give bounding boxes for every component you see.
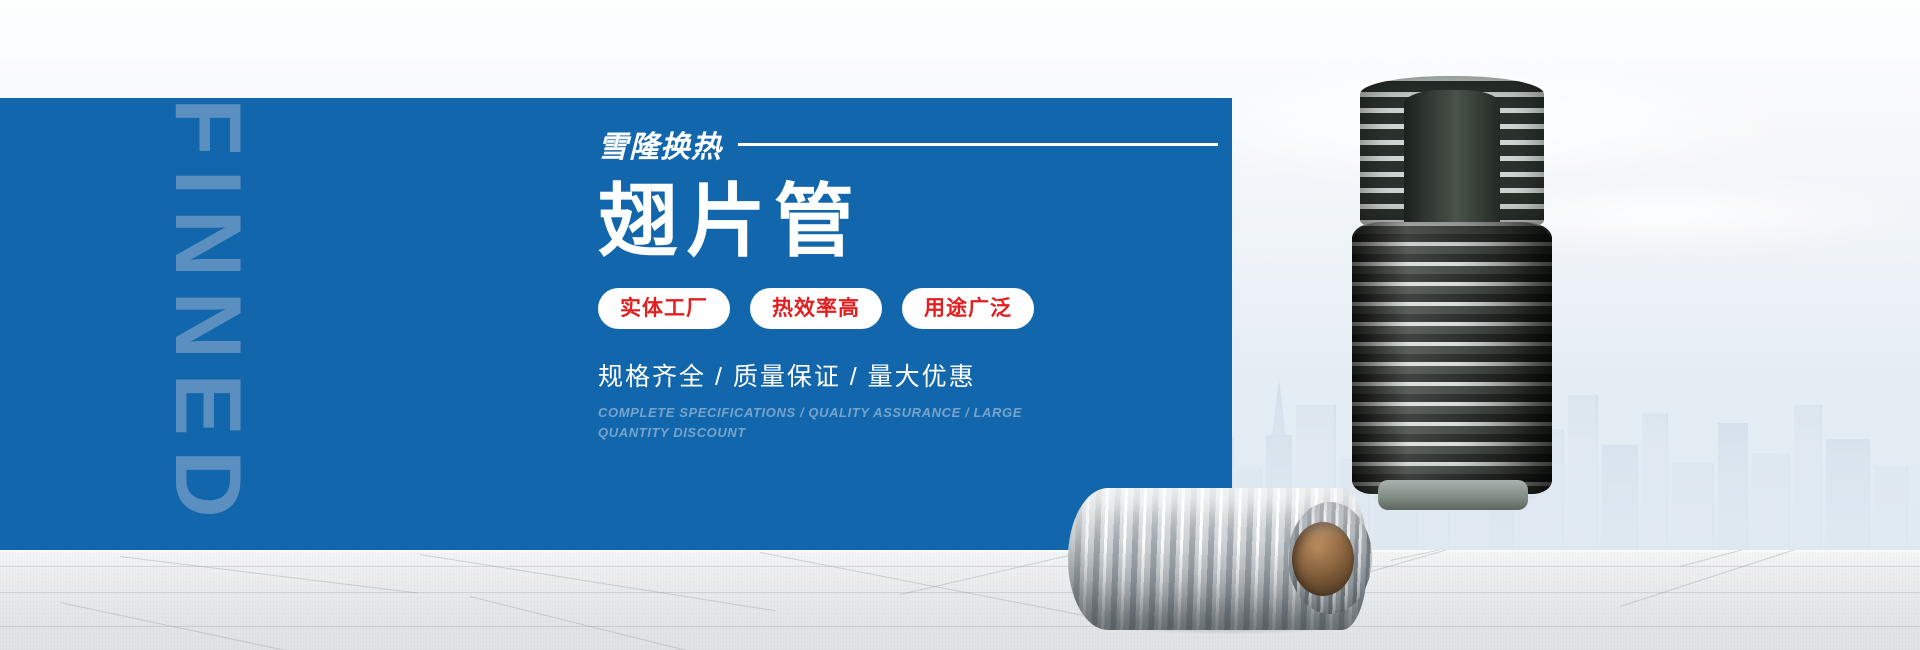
tube-shading bbox=[1352, 222, 1552, 494]
specs-line-english: COMPLETE SPECIFICATIONS / QUALITY ASSURA… bbox=[598, 403, 1028, 443]
floor-texture bbox=[0, 550, 1920, 650]
brand-divider-rule bbox=[738, 143, 1218, 146]
finned-watermark-text: FINNED bbox=[148, 98, 268, 550]
page-title: 翅片管 bbox=[598, 180, 1218, 264]
horizontal-finned-tube-image bbox=[1068, 488, 1368, 630]
specs-line-chinese: 规格齐全 / 质量保证 / 量大优惠 bbox=[598, 357, 1218, 393]
copper-inner-tube bbox=[1292, 522, 1354, 596]
vertical-finned-tube-image bbox=[1352, 76, 1552, 494]
tube-inner-core bbox=[1404, 90, 1500, 226]
banner-content: 雪隆换热 翅片管 实体工厂 热效率高 用途广泛 规格齐全 / 质量保证 / 量大… bbox=[598, 124, 1218, 443]
tube-base bbox=[1378, 480, 1528, 510]
product-banner: FINNED 雪隆换热 翅片管 实体工厂 热效率高 用途广泛 规格齐全 / 质量… bbox=[0, 0, 1920, 650]
badge-applications: 用途广泛 bbox=[902, 288, 1034, 329]
feature-badges: 实体工厂 热效率高 用途广泛 bbox=[598, 288, 1218, 329]
badge-factory: 实体工厂 bbox=[598, 288, 730, 329]
brand-name: 雪隆换热 bbox=[598, 122, 722, 166]
brand-line: 雪隆换热 bbox=[598, 124, 1218, 164]
badge-efficiency: 热效率高 bbox=[750, 288, 882, 329]
tube-helical-fins bbox=[1352, 222, 1552, 494]
